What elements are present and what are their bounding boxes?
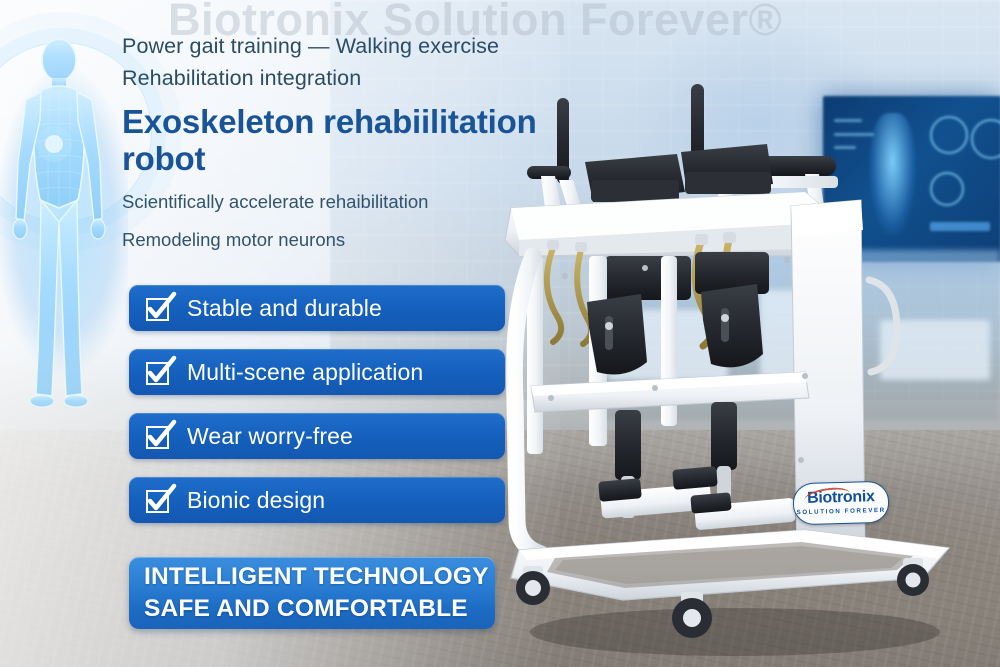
caster-wheel: [672, 592, 712, 638]
hero-copy-block: Power gait training — Walking exercise R…: [122, 30, 642, 253]
monitor-icon-ring: [971, 119, 1000, 159]
product-logo-badge: Biotronix SOLUTION FOREVER: [792, 481, 889, 525]
thigh-cuff: [587, 294, 647, 374]
feature-item-multi-scene-application[interactable]: Multi-scene application: [129, 349, 505, 395]
product-banner: Biotronix SOLUTION FOREVER Biotronix Sol…: [0, 0, 1000, 667]
shin-actuator: [615, 410, 641, 480]
feature-list: Stable and durable Multi-scene applicati…: [129, 285, 505, 541]
feature-label: Bionic design: [187, 487, 325, 514]
actuator-box: [605, 256, 691, 300]
feature-label: Stable and durable: [187, 295, 382, 322]
cable: [547, 248, 561, 342]
feature-label: Wear worry-free: [187, 423, 353, 450]
hologram-body-svg: [0, 22, 128, 422]
hero-eyebrow-line-2: Rehabilitation integration: [122, 62, 642, 94]
feature-item-bionic-design[interactable]: Bionic design: [129, 477, 505, 523]
feature-label: Multi-scene application: [187, 359, 423, 386]
tagline-line-1: INTELLIGENT TECHNOLOGY: [144, 561, 495, 593]
hero-eyebrow-line-1: Power gait training — Walking exercise: [122, 30, 642, 62]
hologram-human-figure: [0, 22, 128, 422]
tagline-line-2: SAFE AND COMFORTABLE: [144, 593, 495, 625]
checkbox-checked-icon: [145, 357, 175, 387]
hero-subcopy-line-1: Scientifically accelerate rehaibilitatio…: [122, 189, 642, 215]
hero-headline: Exoskeleton rehabiilitation robot: [122, 103, 602, 177]
feature-item-wear-worry-free[interactable]: Wear worry-free: [129, 413, 505, 459]
thigh-cuff: [701, 284, 763, 367]
hero-subcopy-line-2: Remodeling motor neurons: [122, 227, 642, 253]
tagline-banner[interactable]: INTELLIGENT TECHNOLOGY SAFE AND COMFORTA…: [129, 557, 495, 629]
checkbox-checked-icon: [145, 421, 175, 451]
checkbox-checked-icon: [145, 293, 175, 323]
checkbox-checked-icon: [145, 485, 175, 515]
feature-item-stable-and-durable[interactable]: Stable and durable: [129, 285, 505, 331]
badge-brand-tagline: SOLUTION FOREVER: [797, 506, 886, 517]
shin-actuator: [711, 402, 737, 470]
